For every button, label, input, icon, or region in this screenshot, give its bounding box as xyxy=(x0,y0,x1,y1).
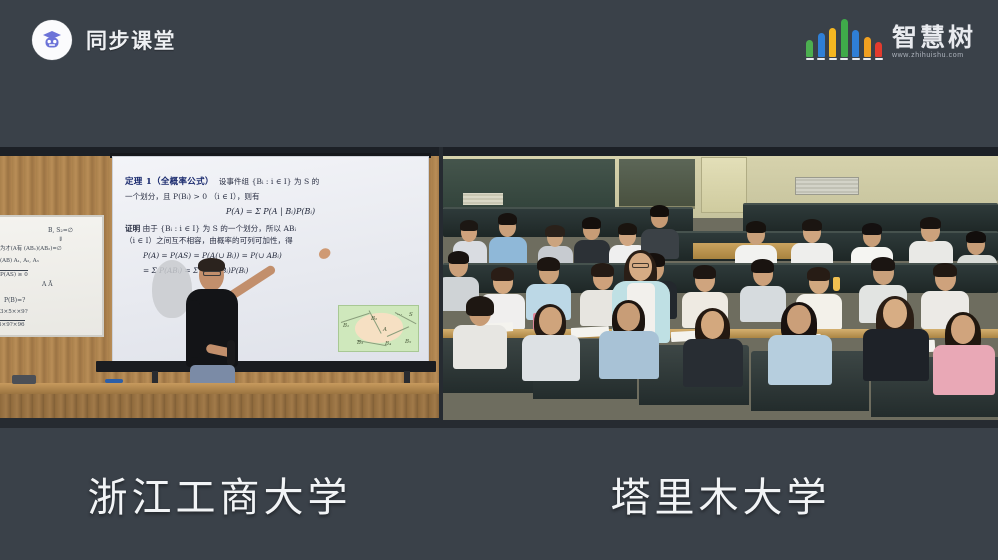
wall-vent-icon xyxy=(795,177,859,195)
venn-label: B₁ xyxy=(343,323,349,329)
caption-right: 塔里木大学 xyxy=(443,465,998,523)
blackboard-secondary xyxy=(619,159,695,209)
caption-right-text: 塔里木大学 xyxy=(611,465,831,523)
venn-label: B₅ xyxy=(405,339,411,345)
zhihuishu-wordmark: 智慧树 www.zhihuishu.com xyxy=(892,25,976,60)
chalk-rail xyxy=(0,383,439,394)
zhihuishu-logo: 智慧树 www.zhihuishu.com xyxy=(806,20,976,60)
video-stage: B, S₂=∅ ⇓ 为才(A有 (AB₁)(AB₂)=∅ (AB) A₁, A₂… xyxy=(0,147,998,428)
water-bottle xyxy=(833,277,840,291)
whiteboard-note: P(AS) ≥ 0 xyxy=(0,270,28,278)
video-pane-left[interactable]: B, S₂=∅ ⇓ 为才(A有 (AB₁)(AB₂)=∅ (AB) A₁, A₂… xyxy=(0,147,439,428)
slide-content: 定理 1（全概率公式） 设事件组 {Bᵢ : i ∈ I} 为 S 的 一个划分… xyxy=(113,157,428,361)
slide-equation-1: P(A) = Σ P(A | Bᵢ)P(Bᵢ) xyxy=(125,206,416,218)
whiteboard-note: A Ā xyxy=(42,281,53,288)
whiteboard-note: ⇓ xyxy=(58,236,63,243)
whiteboard: B, S₂=∅ ⇓ 为才(A有 (AB₁)(AB₂)=∅ (AB) A₁, A₂… xyxy=(0,215,104,337)
pane-letterbox-bottom xyxy=(443,420,998,428)
slide-line2: 一个划分，且 P(Bᵢ) > 0 （i ∈ I），则有 xyxy=(125,191,416,202)
venn-label: S xyxy=(409,312,413,318)
front-desk-panel xyxy=(0,394,439,418)
whiteboard-note: (AB) A₁, A₂, A₃ xyxy=(0,258,39,264)
slide-proof-line1: 由于 {Bᵢ : i ∈ I} 为 S 的一个划分，所以 ABᵢ xyxy=(143,224,296,233)
video-pane-right[interactable] xyxy=(443,147,998,428)
slide-line1: 设事件组 {Bᵢ : i ∈ I} 为 S 的 xyxy=(219,177,319,186)
graduation-owl-icon xyxy=(32,20,72,60)
lecturer-hair xyxy=(198,258,225,272)
venn-label: ... xyxy=(397,311,402,317)
whiteboard-note: B, S₂=∅ xyxy=(48,227,73,234)
venn-label: B₃ xyxy=(357,340,363,346)
eyeglasses-icon xyxy=(632,263,649,268)
lecturer-left-arm xyxy=(189,300,200,358)
whiteboard-note: 3×5××9? xyxy=(0,309,28,315)
marker-pen xyxy=(105,379,123,383)
venn-diagram: B₁ B₂ B₃ B₄ B₅ A S ... xyxy=(338,305,419,352)
wall-vent-secondary-icon xyxy=(463,193,503,205)
projector-screen: 定理 1（全概率公式） 设事件组 {Bᵢ : i ∈ I} 为 S 的 一个划分… xyxy=(112,156,429,362)
pane-letterbox-bottom xyxy=(0,418,439,428)
venn-label: B₂ xyxy=(371,316,377,322)
page-header: 同步课堂 智慧树 www.zhihuishu.com xyxy=(0,0,998,147)
whiteboard-note: 为才(A有 (AB₁)(AB₂)=∅ xyxy=(0,244,62,252)
whiteboard-note: 5×9?×96 xyxy=(0,320,25,328)
slide-proof-label: 证明 xyxy=(125,224,140,233)
brand: 同步课堂 xyxy=(32,20,176,60)
pane-letterbox-top xyxy=(443,147,998,156)
lecturer-glasses xyxy=(203,271,221,276)
projector-frame-bottom xyxy=(96,361,436,372)
venn-label: B₄ xyxy=(385,341,391,347)
lecturer-microphone xyxy=(227,340,235,366)
brand-title: 同步课堂 xyxy=(86,25,176,55)
eraser xyxy=(12,375,36,384)
classroom-door xyxy=(701,157,747,213)
caption-left: 浙江工商大学 xyxy=(0,465,439,523)
slide-theorem-title: 定理 1（全概率公式） xyxy=(125,177,214,187)
dual-classroom-broadcast-page: 同步课堂 智慧树 www.zhihuishu.com xyxy=(0,0,998,560)
caption-left-text: 浙江工商大学 xyxy=(88,465,352,523)
zhihuishu-cn-text: 智慧树 xyxy=(892,25,976,51)
caption-bar: 浙江工商大学 塔里木大学 xyxy=(0,428,998,560)
logo-bars-icon xyxy=(806,20,883,60)
whiteboard-note: P(B)=? xyxy=(4,297,25,304)
slide-proof-line2: （i ∈ I）之间互不相容，由概率的可列可加性，得 xyxy=(125,235,416,246)
zhihuishu-url-text: www.zhihuishu.com xyxy=(892,52,964,59)
venn-label: A xyxy=(383,327,387,333)
